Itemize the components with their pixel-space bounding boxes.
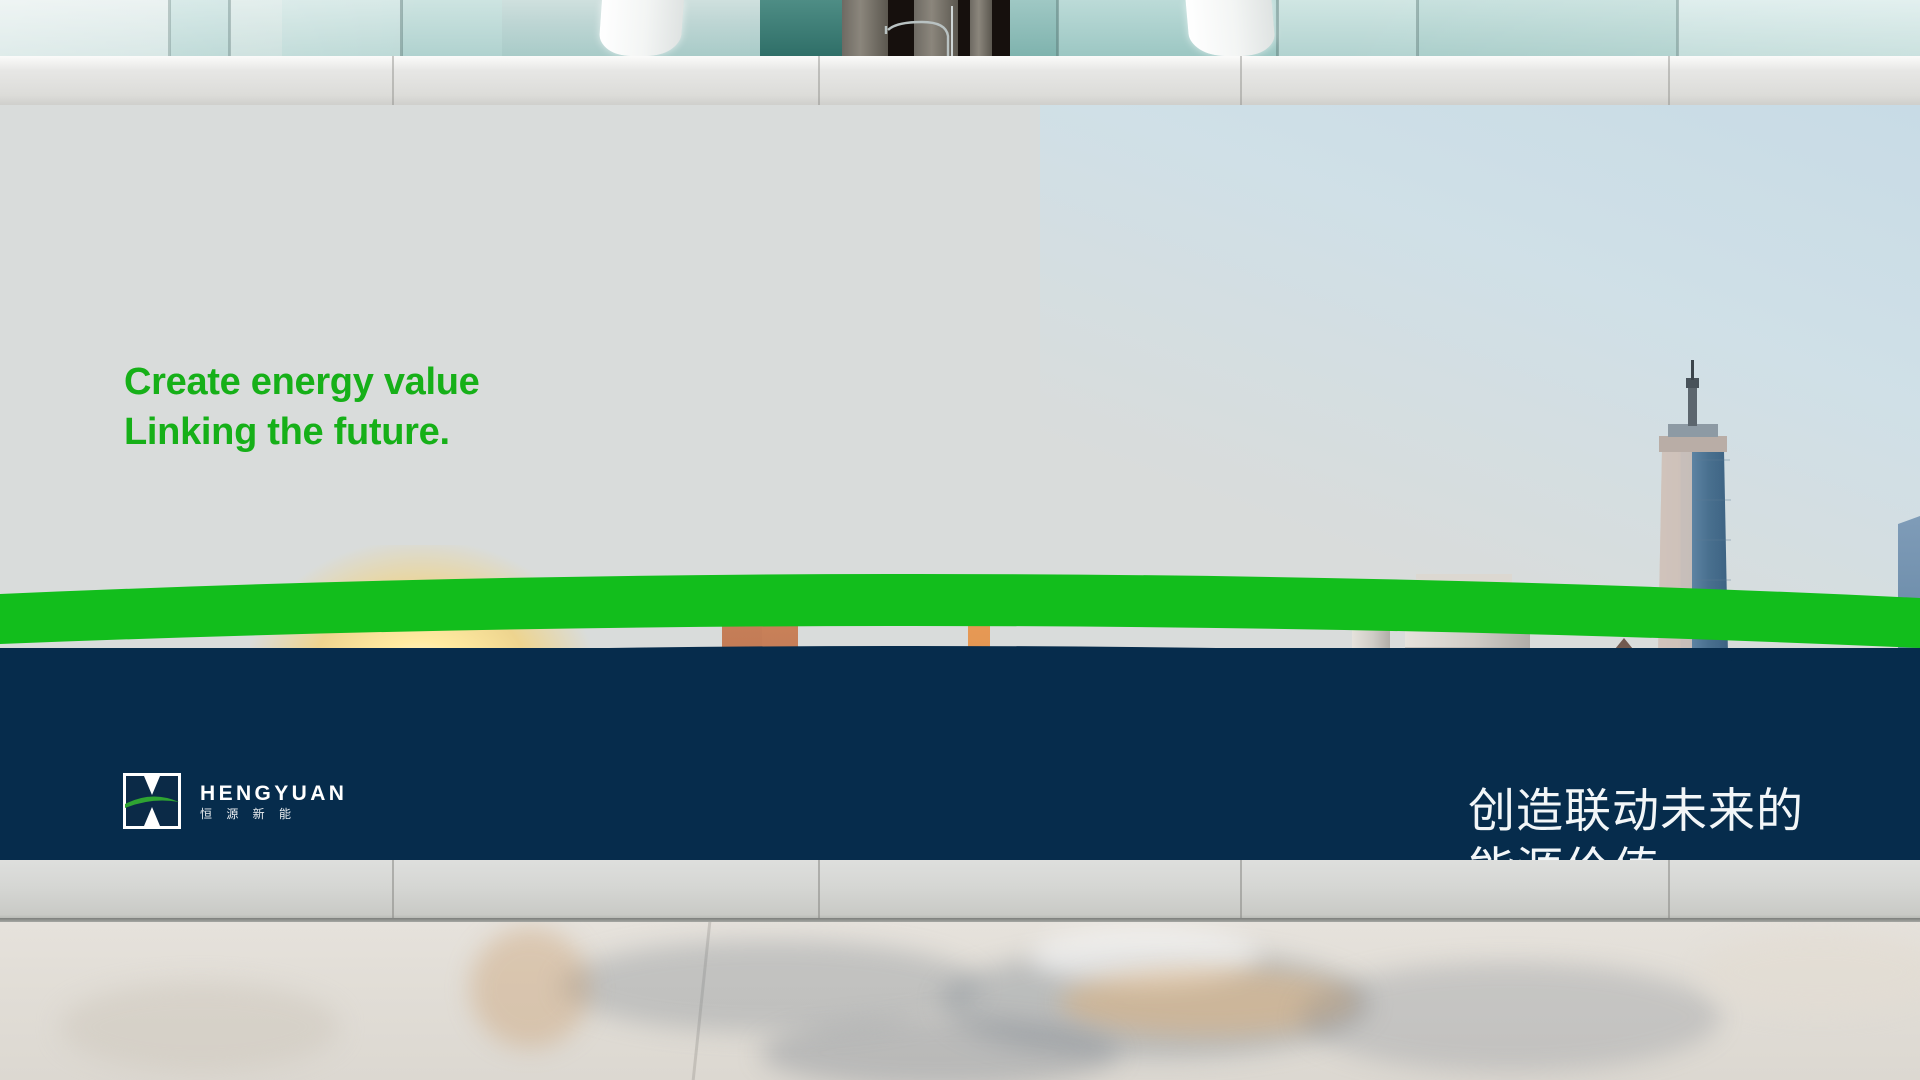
- ledge-seam: [818, 56, 820, 105]
- logo-chinese-name: 恒 源 新 能: [200, 808, 347, 820]
- logo-english-name: HENGYUAN: [200, 783, 347, 804]
- billboard-scene: Create energy value Linking the future. …: [0, 0, 1920, 1080]
- ledge-seam: [392, 860, 394, 922]
- brand-logo: HENGYUAN 恒 源 新 能: [123, 773, 347, 829]
- concrete-floor: [0, 922, 1920, 1080]
- ledge-seam: [1668, 860, 1670, 922]
- floor-stain: [60, 982, 340, 1072]
- slogan-line-1: 创造联动未来的: [1468, 781, 1804, 840]
- floor-stain-warm: [470, 928, 590, 1048]
- ledge-seam: [1668, 56, 1670, 105]
- ledge-seam: [818, 860, 820, 922]
- navy-top-curve: [0, 626, 1920, 666]
- billboard-panel: Create energy value Linking the future. …: [0, 105, 1920, 860]
- hengyuan-logo-mark: [123, 773, 181, 829]
- ledge-seam: [392, 56, 394, 105]
- logo-wordmark: HENGYUAN 恒 源 新 能: [200, 783, 347, 820]
- lower-concrete-ledge: [0, 860, 1920, 922]
- ledge-seam: [1240, 56, 1242, 105]
- ledge-seam: [1240, 860, 1242, 922]
- glass-reflection: [0, 0, 1920, 56]
- upper-concrete-ledge: [0, 56, 1920, 105]
- slogan-line-2: 能源价值: [1468, 840, 1804, 860]
- headline-line-1: Create energy value: [124, 357, 480, 407]
- hengyuan-m-mark-icon: [123, 773, 181, 829]
- floor-stain: [760, 1018, 1120, 1080]
- glass-facade: [0, 0, 1920, 56]
- floor-stain: [1300, 962, 1720, 1072]
- headline-block: Create energy value Linking the future.: [124, 357, 480, 457]
- chinese-slogan-block: 创造联动未来的 能源价值: [1468, 781, 1804, 860]
- floor-highlight: [1700, 932, 1920, 1012]
- headline-line-2: Linking the future.: [124, 407, 480, 457]
